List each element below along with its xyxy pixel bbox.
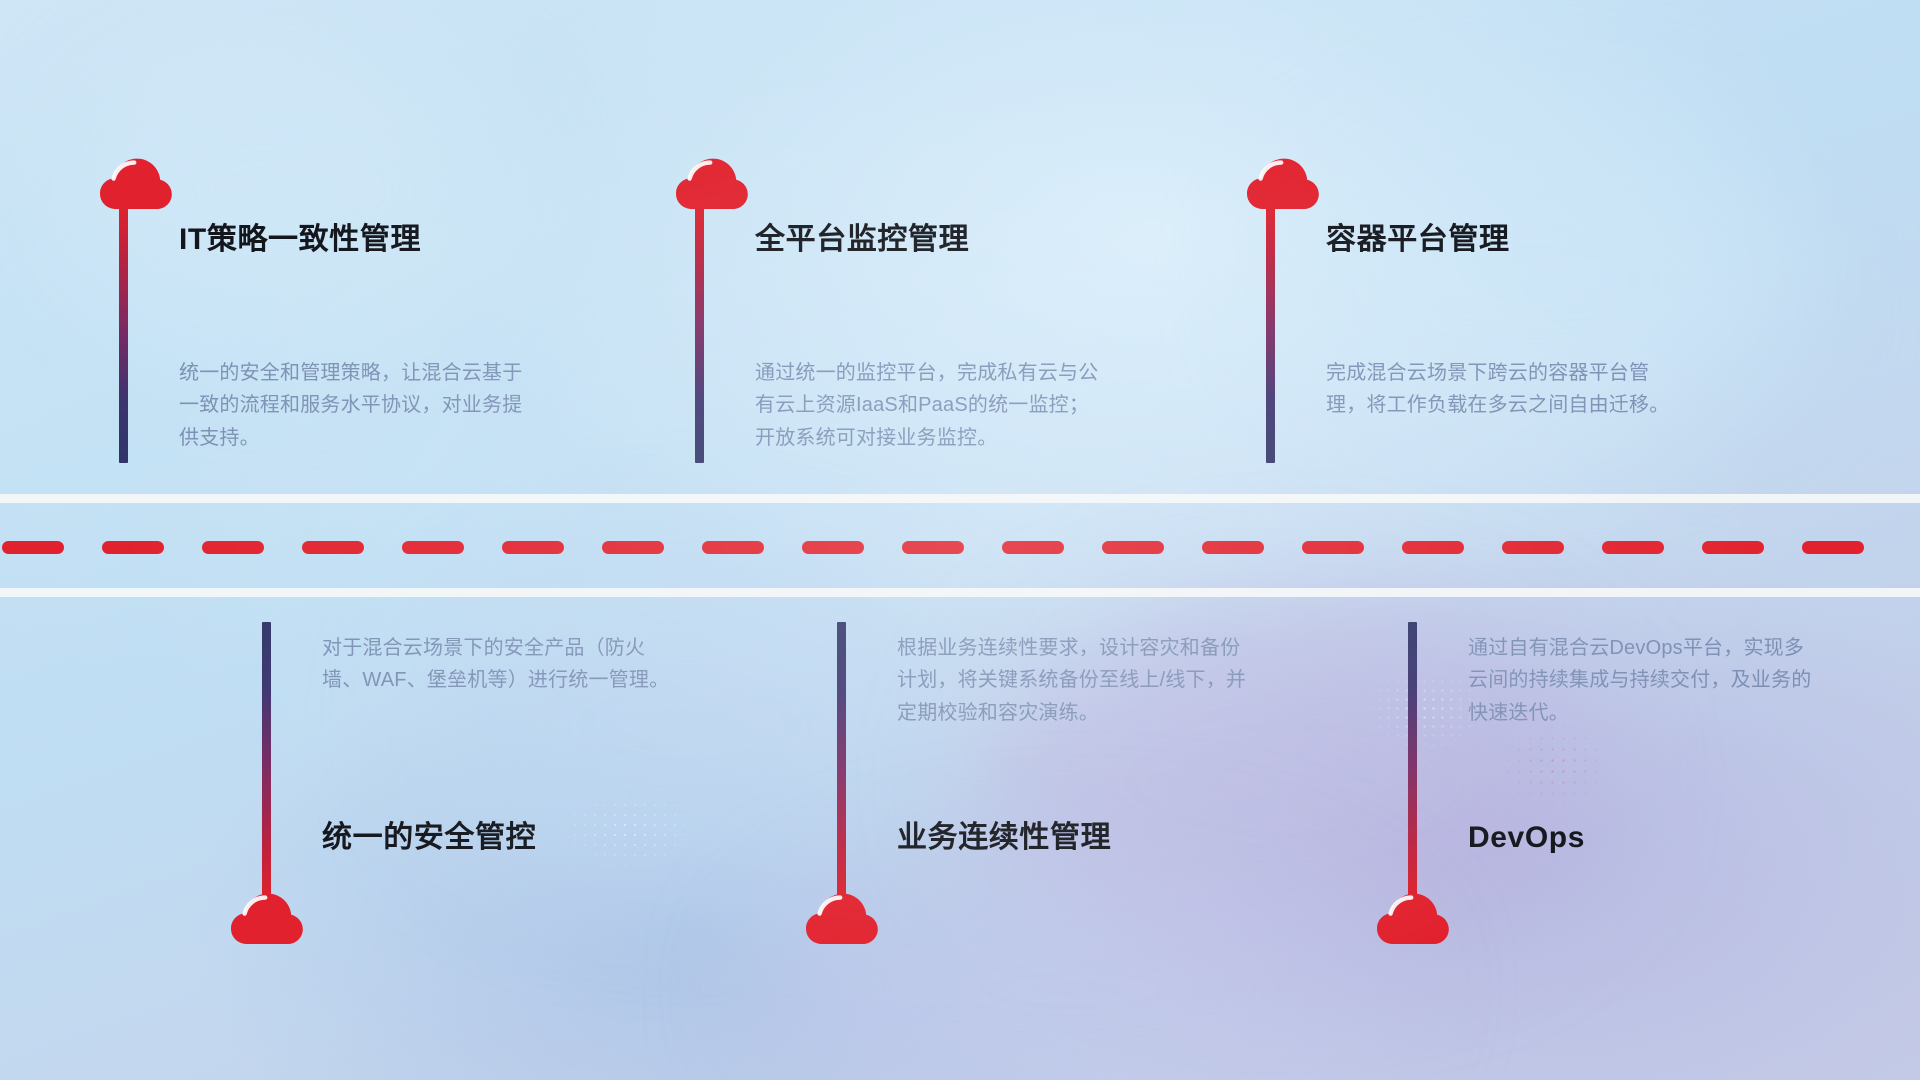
- cloud-icon: [806, 893, 878, 945]
- road-dash-segment: [902, 541, 964, 554]
- card-title: 容器平台管理: [1326, 222, 1510, 258]
- road-line-top: [0, 494, 1920, 503]
- connector-stem: [262, 622, 271, 902]
- speckle-texture: [520, 770, 740, 890]
- connector-stem: [119, 205, 128, 463]
- connector-stem: [695, 205, 704, 463]
- infographic-canvas: IT策略一致性管理 统一的安全和管理策略，让混合云基于一致的流程和服务水平协议，…: [0, 0, 1920, 1080]
- card-title: 统一的安全管控: [322, 820, 536, 856]
- road-dash-center: [0, 541, 1920, 554]
- road-dash-segment: [1402, 541, 1464, 554]
- card-description: 通过统一的监控平台，完成私有云与公有云上资源IaaS和PaaS的统一监控；开放系…: [755, 357, 1105, 454]
- card-description: 统一的安全和管理策略，让混合云基于一致的流程和服务水平协议，对业务提供支持。: [179, 357, 529, 454]
- road-dash-segment: [602, 541, 664, 554]
- road-dash-segment: [1102, 541, 1164, 554]
- road-dash-segment: [102, 541, 164, 554]
- road-dash-segment: [702, 541, 764, 554]
- road-dash-segment: [502, 541, 564, 554]
- card-title: 业务连续性管理: [897, 820, 1111, 856]
- connector-stem: [1408, 622, 1417, 902]
- road-dash-segment: [1802, 541, 1864, 554]
- road-dash-segment: [1302, 541, 1364, 554]
- card-title: DevOps: [1468, 820, 1585, 856]
- road-dash-segment: [202, 541, 264, 554]
- road-dash-segment: [1702, 541, 1764, 554]
- cloud-icon: [231, 893, 303, 945]
- card-title: IT策略一致性管理: [179, 222, 421, 258]
- road-dash-segment: [1502, 541, 1564, 554]
- cloud-icon: [676, 158, 748, 210]
- road-line-bottom: [0, 588, 1920, 597]
- card-description: 对于混合云场景下的安全产品（防火墙、WAF、堡垒机等）进行统一管理。: [322, 632, 672, 697]
- road-dash-segment: [1202, 541, 1264, 554]
- road-dash-segment: [802, 541, 864, 554]
- road-dash-segment: [1002, 541, 1064, 554]
- cloud-icon: [1377, 893, 1449, 945]
- card-description: 完成混合云场景下跨云的容器平台管理，将工作负载在多云之间自由迁移。: [1326, 357, 1676, 422]
- connector-stem: [837, 622, 846, 902]
- connector-stem: [1266, 205, 1275, 463]
- card-description: 根据业务连续性要求，设计容灾和备份计划，将关键系统备份至线上/线下，并定期校验和…: [897, 632, 1247, 729]
- road-dash-segment: [2, 541, 64, 554]
- card-description: 通过自有混合云DevOps平台，实现多云间的持续集成与持续交付，及业务的快速迭代…: [1468, 632, 1818, 729]
- cloud-icon: [100, 158, 172, 210]
- road-dash-segment: [1602, 541, 1664, 554]
- cloud-icon: [1247, 158, 1319, 210]
- card-title: 全平台监控管理: [755, 222, 969, 258]
- road-dash-segment: [302, 541, 364, 554]
- road-dash-segment: [402, 541, 464, 554]
